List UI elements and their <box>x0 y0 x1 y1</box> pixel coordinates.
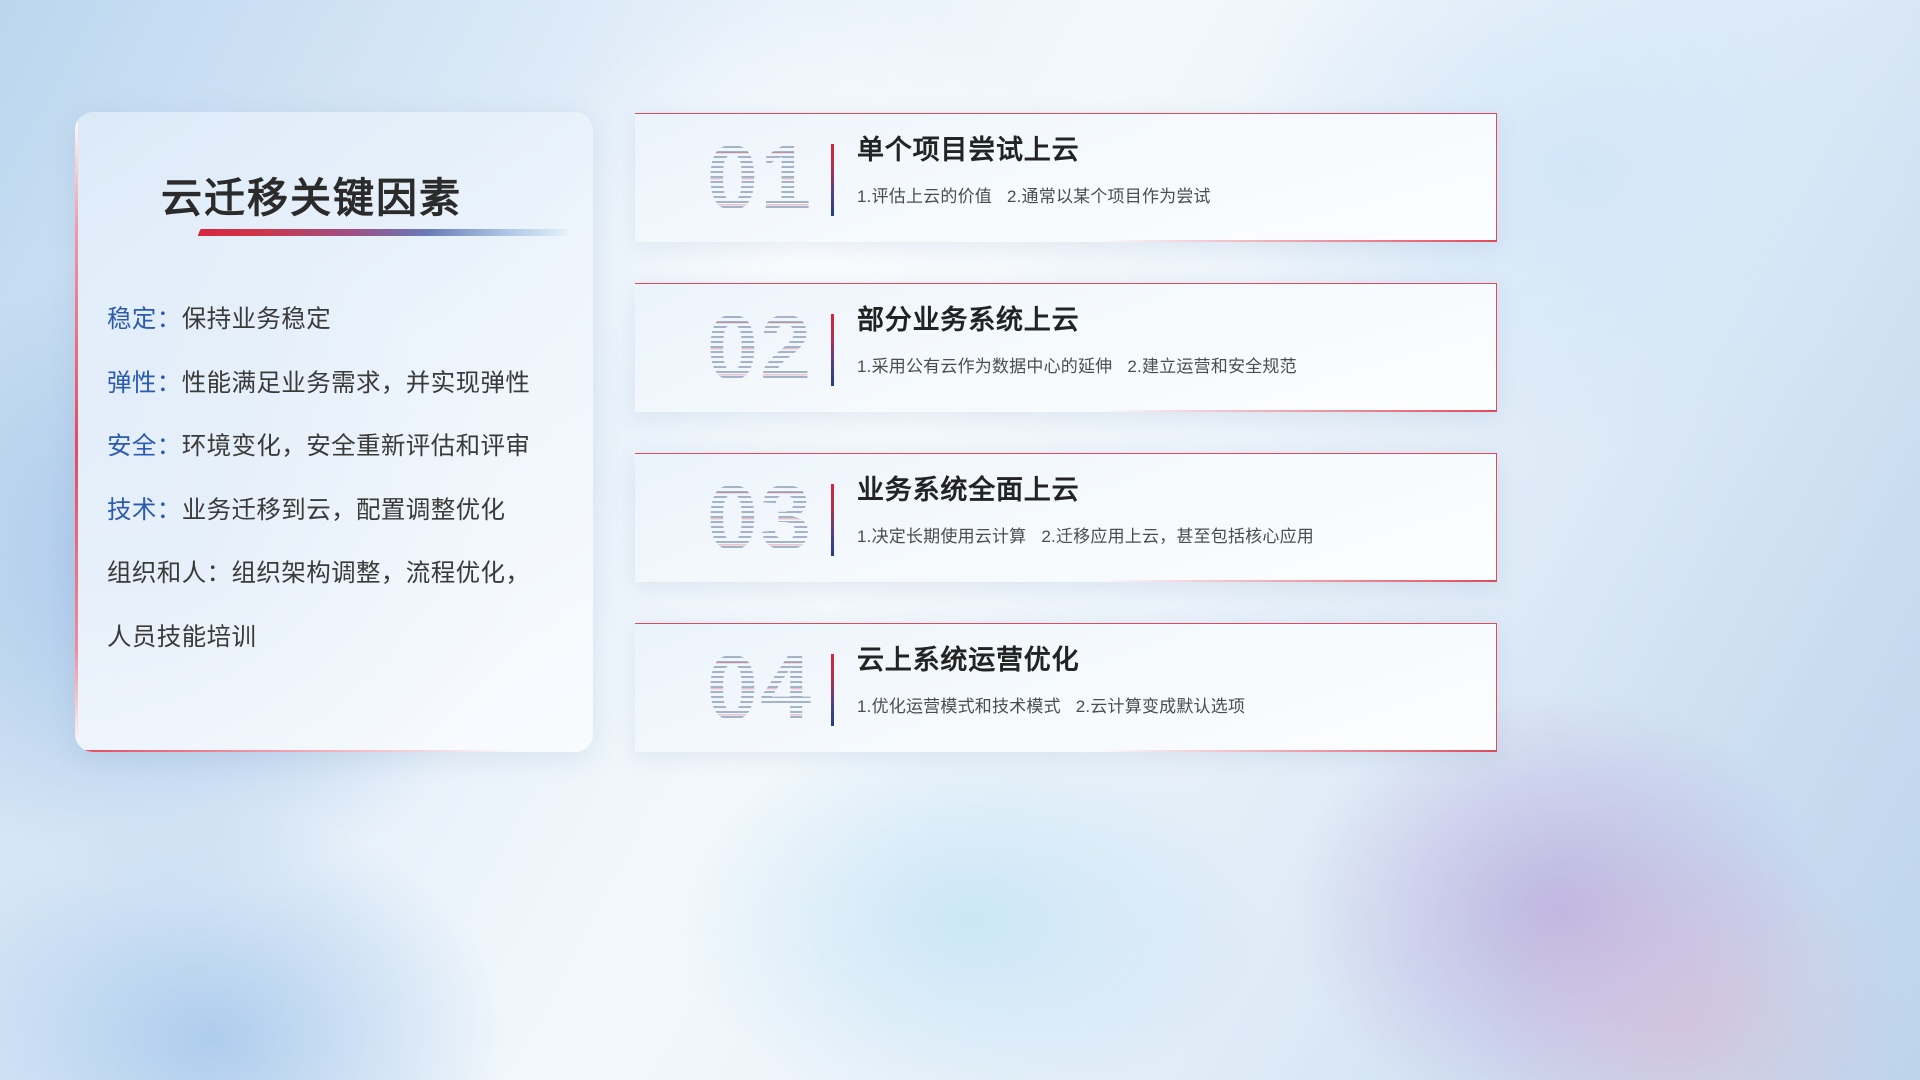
key-factor-text: 组织架构调整，流程优化， <box>232 560 531 587</box>
key-factor-line: 技术：业务迁移到云，配置调整优化 <box>107 499 567 524</box>
stage-text-block: 业务系统全面上云1.决定长期使用云计算2.迁移应用上云，甚至包括核心应用 <box>857 474 1476 547</box>
key-factor-text: 业务迁移到云，配置调整优化 <box>182 497 506 524</box>
title-underline-accent <box>198 229 569 236</box>
stage-description-item-1: 1.优化运营模式和技术模式 <box>857 697 1061 716</box>
stage-description-item-2: 2.云计算变成默认选项 <box>1076 697 1245 716</box>
key-factor-label: 弹性： <box>107 370 182 397</box>
stage-text-block: 单个项目尝试上云1.评估上云的价值2.通常以某个项目作为尝试 <box>857 134 1476 207</box>
slide-stage: 云迁移关键因素 稳定：保持业务稳定弹性：性能满足业务需求，并实现弹性安全：环境变… <box>0 0 1920 1080</box>
key-factors-list: 稳定：保持业务稳定弹性：性能满足业务需求，并实现弹性安全：环境变化，安全重新评估… <box>107 308 567 650</box>
stage-text-block: 云上系统运营优化1.优化运营模式和技术模式2.云计算变成默认选项 <box>857 644 1476 717</box>
key-factor-text: 性能满足业务需求，并实现弹性 <box>182 370 531 397</box>
stage-number-watermark: 04 <box>680 636 840 740</box>
key-factors-panel: 云迁移关键因素 稳定：保持业务稳定弹性：性能满足业务需求，并实现弹性安全：环境变… <box>75 112 593 752</box>
stage-description-item-1: 1.评估上云的价值 <box>857 187 992 206</box>
key-factor-label: 技术： <box>107 497 182 524</box>
key-factor-line: 人员技能培训 <box>107 626 567 651</box>
stage-divider-bar <box>831 654 834 726</box>
stage-divider-bar <box>831 314 834 386</box>
stage-divider-bar <box>831 144 834 216</box>
stage-number-watermark: 03 <box>680 466 840 570</box>
stage-number-watermark: 01 <box>680 126 840 230</box>
key-factor-text: 环境变化，安全重新评估和评审 <box>182 433 531 460</box>
panel-title: 云迁移关键因素 <box>161 164 462 224</box>
stage-description-item-2: 2.通常以某个项目作为尝试 <box>1007 187 1211 206</box>
stage-divider-bar <box>831 484 834 556</box>
stage-description: 1.优化运营模式和技术模式2.云计算变成默认选项 <box>857 692 1476 717</box>
stage-description-item-2: 2.建立运营和安全规范 <box>1127 357 1296 376</box>
key-factor-line: 组织和人：组织架构调整，流程优化， <box>107 562 567 587</box>
stage-description: 1.决定长期使用云计算2.迁移应用上云，甚至包括核心应用 <box>857 522 1476 547</box>
stage-card[interactable]: 0404云上系统运营优化1.优化运营模式和技术模式2.云计算变成默认选项 <box>635 623 1497 752</box>
stage-title: 云上系统运营优化 <box>857 644 1476 678</box>
stage-card[interactable]: 0303业务系统全面上云1.决定长期使用云计算2.迁移应用上云，甚至包括核心应用 <box>635 453 1497 582</box>
stage-card[interactable]: 0101单个项目尝试上云1.评估上云的价值2.通常以某个项目作为尝试 <box>635 113 1497 242</box>
key-factor-label: 安全： <box>107 433 182 460</box>
stage-number-watermark: 02 <box>680 296 840 400</box>
stage-description: 1.评估上云的价值2.通常以某个项目作为尝试 <box>857 182 1476 207</box>
stage-text-block: 部分业务系统上云1.采用公有云作为数据中心的延伸2.建立运营和安全规范 <box>857 304 1476 377</box>
key-factor-text: 人员技能培训 <box>107 624 256 651</box>
stage-description-item-2: 2.迁移应用上云，甚至包括核心应用 <box>1041 527 1314 546</box>
key-factor-text: 保持业务稳定 <box>182 306 331 333</box>
key-factor-line: 稳定：保持业务稳定 <box>107 308 567 333</box>
stage-title: 单个项目尝试上云 <box>857 134 1476 168</box>
cloud-migration-stages-list: 0101单个项目尝试上云1.评估上云的价值2.通常以某个项目作为尝试0202部分… <box>635 113 1497 752</box>
stage-card[interactable]: 0202部分业务系统上云1.采用公有云作为数据中心的延伸2.建立运营和安全规范 <box>635 283 1497 412</box>
key-factor-line: 弹性：性能满足业务需求，并实现弹性 <box>107 372 567 397</box>
stage-description-item-1: 1.采用公有云作为数据中心的延伸 <box>857 357 1112 376</box>
key-factor-line: 安全：环境变化，安全重新评估和评审 <box>107 435 567 460</box>
stage-title: 部分业务系统上云 <box>857 304 1476 338</box>
key-factor-label: 组织和人： <box>107 560 232 587</box>
key-factor-label: 稳定： <box>107 306 182 333</box>
stage-description-item-1: 1.决定长期使用云计算 <box>857 527 1026 546</box>
stage-title: 业务系统全面上云 <box>857 474 1476 508</box>
stage-description: 1.采用公有云作为数据中心的延伸2.建立运营和安全规范 <box>857 352 1476 377</box>
